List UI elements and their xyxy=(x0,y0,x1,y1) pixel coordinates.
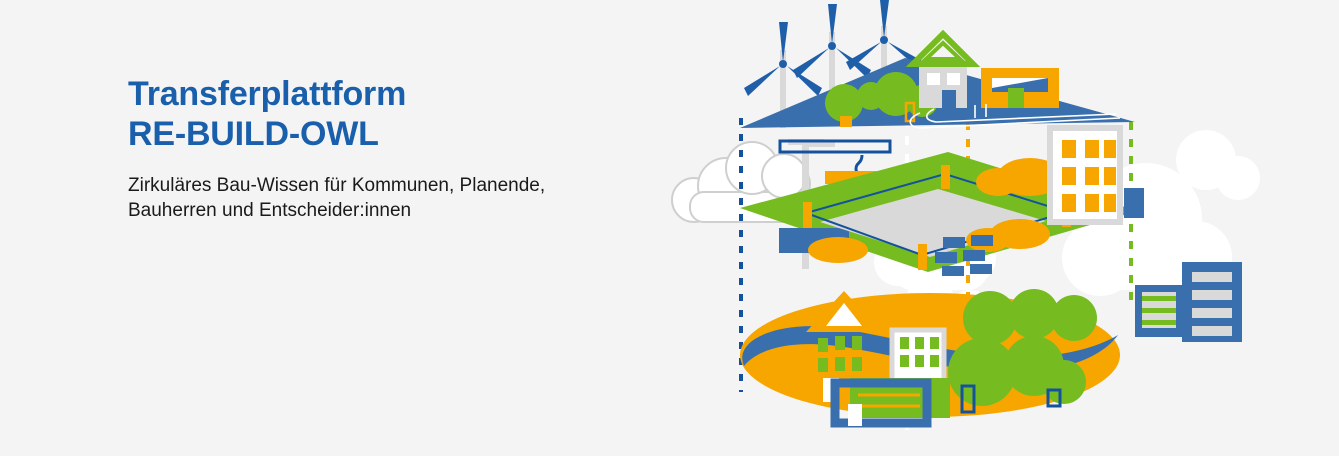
cloud-outline-upper-left xyxy=(726,142,806,198)
page-subtitle-line-2: Bauherren und Entscheider:innen xyxy=(128,200,411,221)
logistics-hall xyxy=(835,378,950,426)
page-subtitle: Zirkuläres Bau-Wissen für Kommunen, Plan… xyxy=(128,174,688,223)
hero-text-block: TransferplattformRE-BUILD-OWL Zirkuläres… xyxy=(128,74,688,224)
house-green-roof xyxy=(913,34,973,108)
post-corner-s xyxy=(918,244,927,270)
hero-banner: TransferplattformRE-BUILD-OWL Zirkuläres… xyxy=(0,0,1339,456)
page-title-line-2: RE-BUILD-OWL xyxy=(128,114,688,154)
tree-marker-orange-a xyxy=(840,116,852,127)
office-block-large xyxy=(1182,262,1242,342)
post-corner-nw xyxy=(803,202,812,228)
page-title-line-1: Transferplattform xyxy=(128,74,688,114)
material-stacks xyxy=(935,235,993,276)
top-layer-energy-landscape xyxy=(740,0,1135,128)
bottom-layer-quarter xyxy=(740,262,1242,426)
post-corner-n xyxy=(941,165,950,189)
orange-hall xyxy=(981,68,1059,108)
page-subtitle-line-1: Zirkuläres Bau-Wissen für Kommunen, Plan… xyxy=(128,175,545,196)
office-block-small xyxy=(1135,285,1185,337)
hero-illustration xyxy=(630,0,1339,456)
page-title: TransferplattformRE-BUILD-OWL xyxy=(128,74,688,154)
layered-landscape-graphic xyxy=(630,0,1339,456)
